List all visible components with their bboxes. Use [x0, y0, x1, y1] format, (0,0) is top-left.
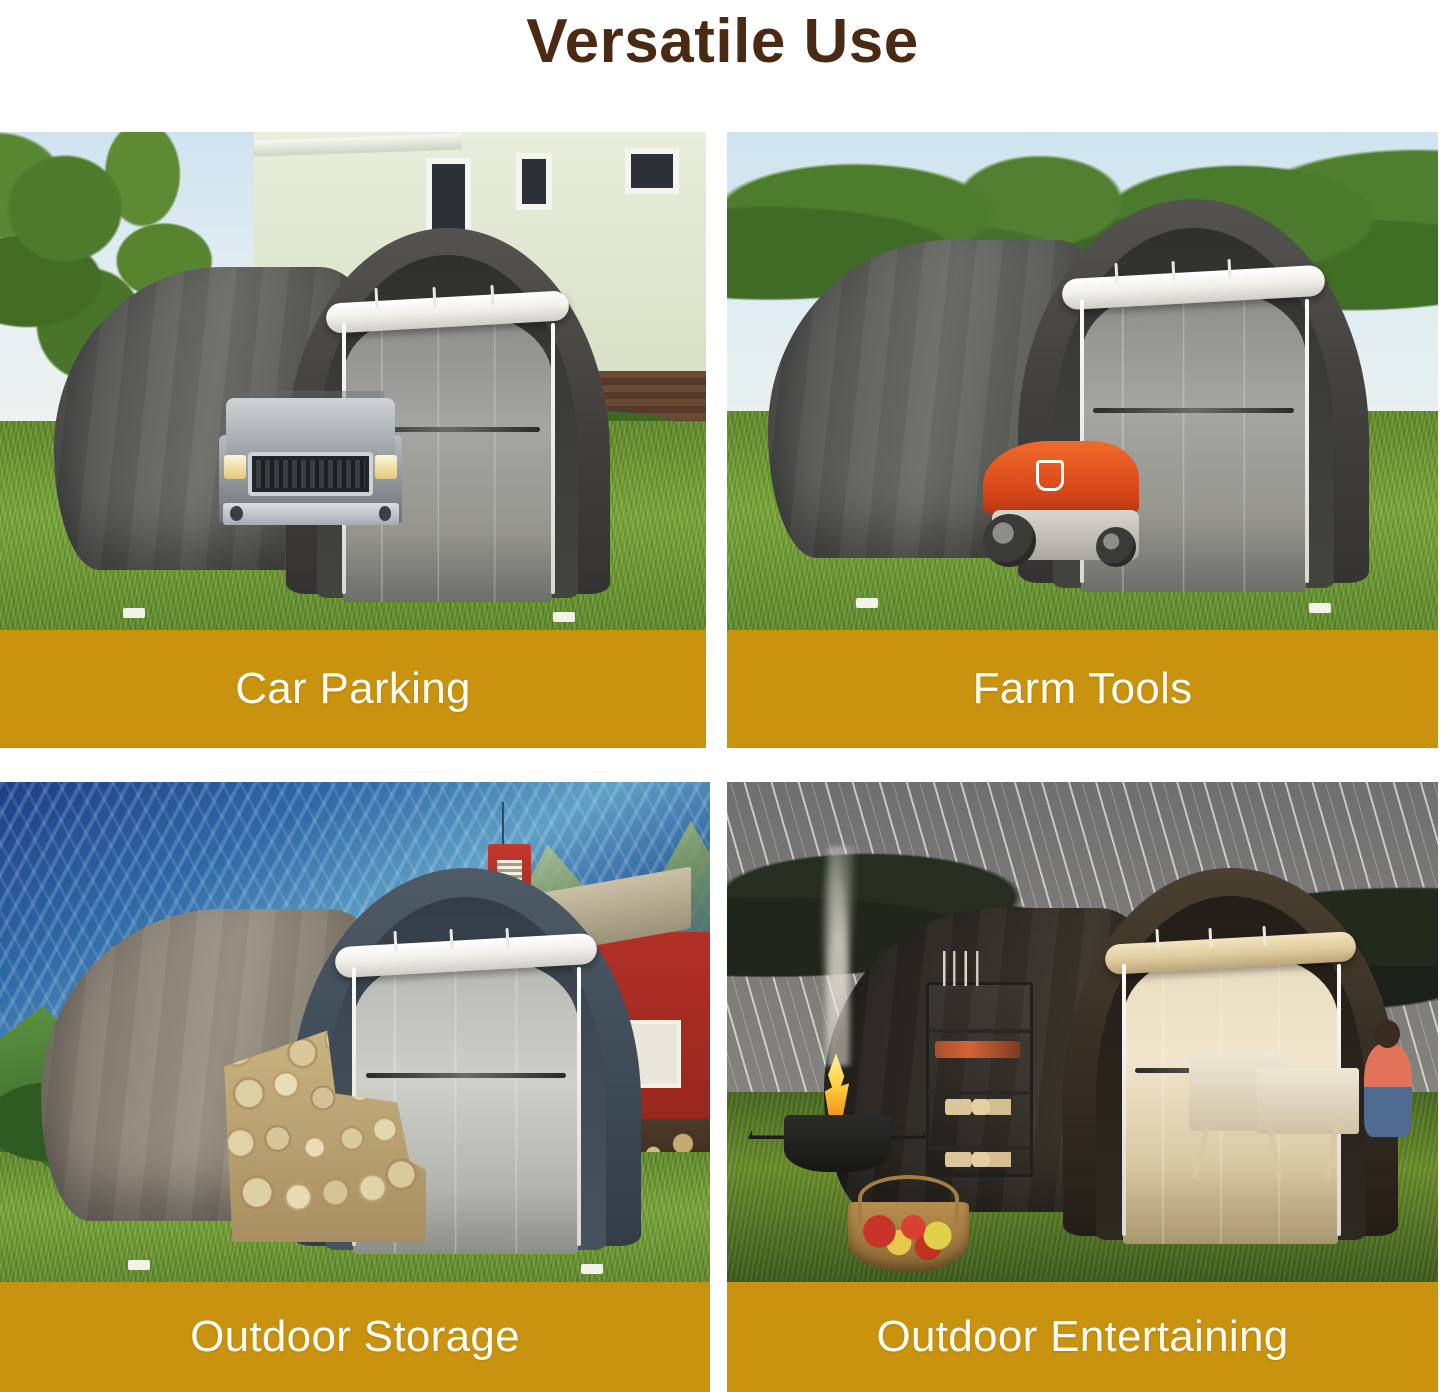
photo-outdoor-storage	[0, 782, 710, 1282]
caption-label: Outdoor Storage	[190, 1312, 520, 1362]
door-edge-right	[1305, 299, 1309, 583]
truck-hood	[226, 398, 395, 456]
fire-bowl	[784, 1115, 891, 1172]
caption-bar-outdoor-entertaining: Outdoor Entertaining	[727, 1282, 1438, 1392]
caption-bar-car-parking: Car Parking	[0, 630, 706, 748]
scene-farm-tools	[727, 132, 1438, 630]
house-window	[625, 148, 679, 195]
shelter-cross-brace	[1093, 408, 1293, 413]
truck-headlight	[224, 455, 246, 479]
canopy-tie-strap	[1155, 929, 1159, 949]
panel-outdoor-entertaining[interactable]: Outdoor Entertaining	[727, 782, 1438, 1392]
fruit-basket	[848, 1202, 969, 1272]
anchor-foot	[553, 612, 575, 622]
photo-car-parking	[0, 132, 706, 630]
truck-headlight	[375, 455, 397, 479]
door-edge-right	[551, 323, 555, 594]
cart-shelf	[928, 1091, 1031, 1095]
scene-outdoor-storage	[0, 782, 710, 1282]
caption-bar-outdoor-storage: Outdoor Storage	[0, 1282, 710, 1392]
bread-tray	[945, 1099, 1011, 1115]
bottles-on-cart	[939, 951, 1003, 986]
brand-logo-icon	[1036, 460, 1064, 491]
anchor-foot	[1309, 603, 1331, 613]
page-title: Versatile Use	[0, 6, 1445, 77]
panel-farm-tools[interactable]: Farm Tools	[727, 132, 1438, 748]
house-eave	[254, 134, 462, 157]
log-ends	[220, 1017, 426, 1242]
bread-tray	[945, 1152, 1011, 1168]
anchor-foot	[581, 1264, 603, 1274]
caption-label: Car Parking	[235, 664, 471, 714]
panel-grid: Car Parking	[0, 132, 1445, 1392]
house-window	[516, 153, 552, 210]
cart-shelf	[928, 1029, 1031, 1033]
lounge-chair	[1257, 1068, 1359, 1134]
truck-bumper	[223, 503, 399, 525]
caption-label: Outdoor Entertaining	[876, 1312, 1288, 1362]
anchor-foot	[856, 598, 878, 608]
smoke-plume	[820, 846, 856, 1066]
anchor-foot	[123, 608, 145, 618]
anchor-foot	[128, 1260, 150, 1270]
truck-fog-light	[230, 506, 243, 521]
food-tray	[935, 1041, 1020, 1059]
lawn-mower	[983, 441, 1139, 561]
scene-car-parking	[0, 132, 706, 630]
firewood-stack	[220, 1017, 426, 1242]
panel-car-parking[interactable]: Car Parking	[0, 132, 706, 748]
person-seated	[1364, 1044, 1412, 1137]
panel-outdoor-storage[interactable]: Outdoor Storage	[0, 782, 710, 1392]
photo-farm-tools	[727, 132, 1438, 630]
scene-outdoor-entertaining	[727, 782, 1438, 1282]
fire-pit	[784, 1062, 891, 1172]
door-edge-left	[1122, 964, 1126, 1236]
truck-grille	[248, 452, 373, 496]
versatile-use-infographic: Versatile Use	[0, 0, 1445, 1392]
serving-cart	[926, 982, 1033, 1177]
pickup-truck	[219, 391, 403, 560]
photo-outdoor-entertaining	[727, 782, 1438, 1282]
caption-label: Farm Tools	[973, 664, 1193, 714]
weather-vane-icon	[502, 802, 504, 849]
lounge-seating-area	[1175, 1032, 1417, 1182]
caption-bar-farm-tools: Farm Tools	[727, 630, 1438, 748]
door-edge-right	[577, 967, 581, 1246]
cart-shelf	[928, 1146, 1031, 1150]
canopy-tie-strap	[1171, 261, 1175, 281]
